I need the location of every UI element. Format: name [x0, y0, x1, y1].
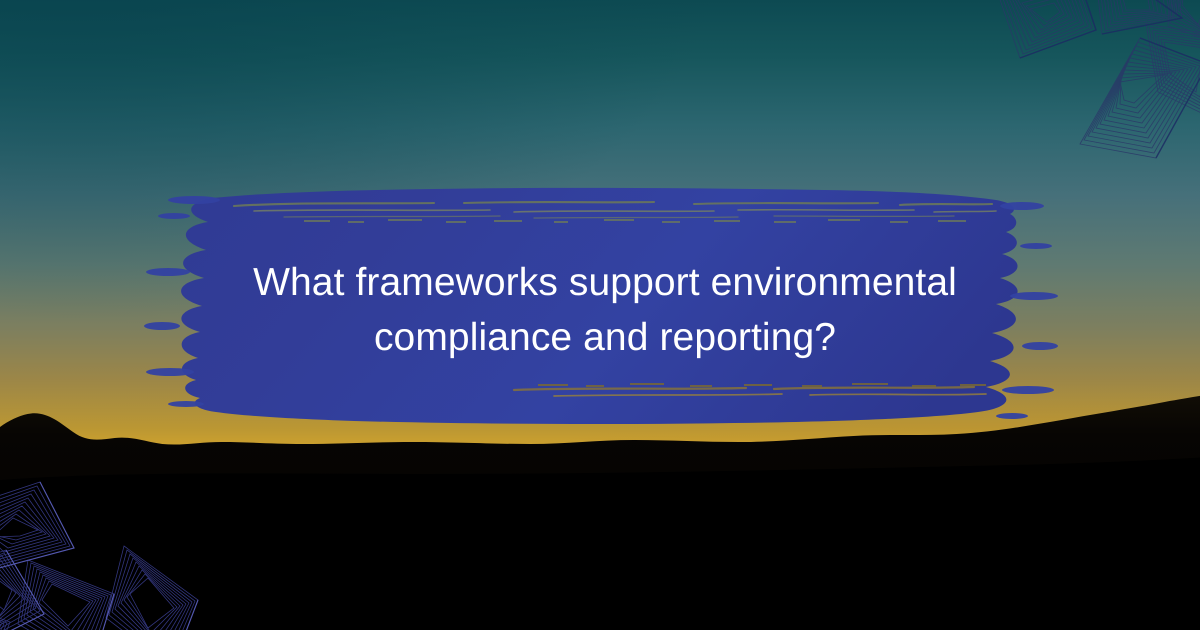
page-title: What frameworks support environmental co…: [150, 255, 1060, 365]
question-card: What frameworks support environmental co…: [0, 0, 1200, 630]
